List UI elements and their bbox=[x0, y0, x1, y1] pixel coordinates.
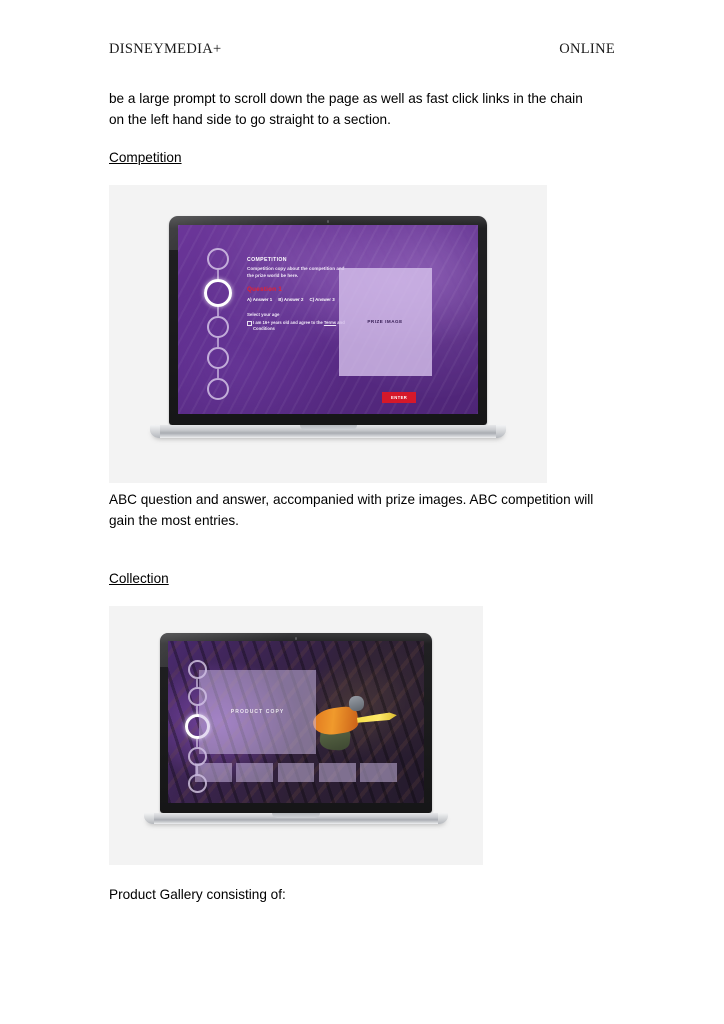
competition-title: COMPETITION bbox=[247, 257, 352, 263]
thumbnail-strip[interactable] bbox=[195, 763, 397, 782]
document-header: DISNEYMEDIA+ ONLINE bbox=[109, 41, 615, 58]
laptop-lid: PRODUCT COPY bbox=[160, 633, 432, 813]
chain-nav[interactable] bbox=[204, 248, 232, 400]
thumbnail-5[interactable] bbox=[360, 763, 397, 782]
caption-product-gallery: Product Gallery consisting of: bbox=[109, 885, 286, 905]
answer-option-a[interactable]: A) Answer 1 bbox=[247, 297, 272, 302]
competition-screen: COMPETITION Competition copy about the c… bbox=[178, 225, 478, 414]
laptop-base-edge-left bbox=[144, 813, 154, 824]
chain-link-5[interactable] bbox=[207, 378, 229, 400]
chain-link-4[interactable] bbox=[207, 347, 229, 369]
laptop-base-edge-right bbox=[438, 813, 448, 824]
hero-head bbox=[349, 696, 364, 711]
hero-blade-icon bbox=[356, 711, 397, 723]
caption-competition: ABC question and answer, accompanied wit… bbox=[109, 489, 599, 531]
laptop-device: COMPETITION Competition copy about the c… bbox=[169, 216, 487, 438]
competition-question: Question 1 bbox=[247, 286, 352, 293]
product-copy-label: PRODUCT COPY bbox=[231, 709, 284, 715]
laptop-lid: COMPETITION Competition copy about the c… bbox=[169, 216, 487, 425]
chain-connector bbox=[217, 270, 219, 279]
competition-answers[interactable]: A) Answer 1 B) Answer 2 C) Answer 3 bbox=[247, 297, 352, 302]
chain-link-2-active[interactable] bbox=[204, 279, 232, 307]
hero-character-artwork bbox=[311, 693, 398, 751]
answer-option-b[interactable]: B) Answer 2 bbox=[278, 297, 303, 302]
laptop-base bbox=[144, 813, 449, 824]
heading-competition: Competition bbox=[109, 148, 182, 168]
paragraph-intro: be a large prompt to scroll down the pag… bbox=[109, 88, 599, 130]
laptop-base-edge-left bbox=[150, 425, 160, 438]
chain-connector bbox=[217, 338, 219, 347]
chain-connector bbox=[217, 307, 219, 316]
thumbnail-3[interactable] bbox=[278, 763, 315, 782]
laptop-base-notch bbox=[272, 813, 321, 818]
enter-button[interactable]: ENTER bbox=[382, 392, 416, 403]
terms-link[interactable]: Terms bbox=[324, 320, 336, 325]
header-channel: ONLINE bbox=[559, 41, 615, 58]
laptop-device: PRODUCT COPY bbox=[160, 633, 432, 824]
document-page: DISNEYMEDIA+ ONLINE be a large prompt to… bbox=[0, 0, 724, 1024]
age-select-label[interactable]: Select your age bbox=[247, 312, 352, 317]
collection-mockup: PRODUCT COPY bbox=[109, 606, 483, 865]
laptop-base bbox=[150, 425, 506, 438]
competition-content: COMPETITION Competition copy about the c… bbox=[247, 257, 352, 332]
terms-checkbox[interactable] bbox=[247, 321, 252, 326]
collection-screen: PRODUCT COPY bbox=[168, 641, 424, 803]
thumbnail-2[interactable] bbox=[236, 763, 273, 782]
heading-collection: Collection bbox=[109, 569, 169, 589]
product-copy-panel: PRODUCT COPY bbox=[199, 670, 317, 754]
answer-option-c[interactable]: C) Answer 3 bbox=[309, 297, 334, 302]
laptop-base-edge-right bbox=[496, 425, 506, 438]
competition-mockup: COMPETITION Competition copy about the c… bbox=[109, 185, 547, 483]
competition-intro-copy: Competition copy about the competition a… bbox=[247, 266, 352, 279]
chain-link-3[interactable] bbox=[207, 316, 229, 338]
header-brand: DISNEYMEDIA+ bbox=[109, 41, 221, 58]
prize-image-placeholder: PRIZE IMAGE bbox=[339, 268, 432, 376]
thumbnail-4[interactable] bbox=[319, 763, 356, 782]
chain-link-1[interactable] bbox=[207, 248, 229, 270]
chain-connector bbox=[217, 369, 219, 378]
thumbnail-1[interactable] bbox=[195, 763, 232, 782]
laptop-base-notch bbox=[300, 425, 357, 430]
terms-agreement[interactable]: I am 16+ years old and agree to the Term… bbox=[247, 320, 352, 332]
webcam-icon bbox=[327, 220, 330, 223]
webcam-icon bbox=[295, 637, 298, 640]
terms-text-before: I am 16+ years old and agree to the bbox=[253, 320, 324, 325]
